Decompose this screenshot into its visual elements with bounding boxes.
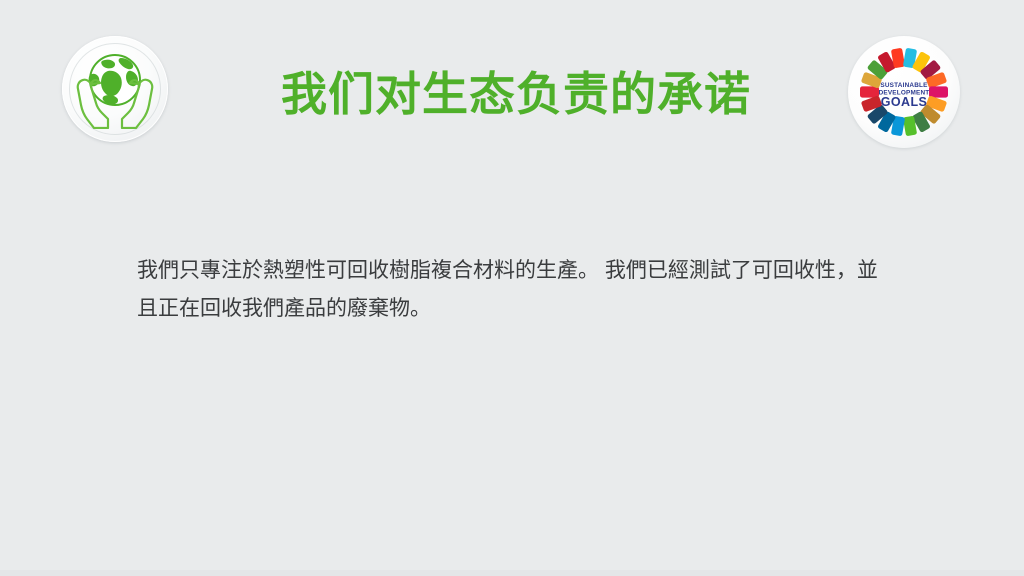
eco-logo-badge xyxy=(62,36,168,142)
sdg-wheel-icon: SUSTAINABLE DEVELOPMENT GOALS xyxy=(852,40,956,144)
bottom-strip xyxy=(0,570,1024,576)
body-paragraph: 我們只專注於熱塑性可回收樹脂複合材料的生產。 我們已經測試了可回收性，並且正在回… xyxy=(137,252,897,328)
slide-canvas: 我们对生态负责的承诺 xyxy=(0,0,1024,576)
sdg-center-line-1: SUSTAINABLE xyxy=(880,82,928,89)
sdg-logo-badge: SUSTAINABLE DEVELOPMENT GOALS xyxy=(848,36,960,148)
slide-title: 我们对生态负责的承诺 xyxy=(186,66,846,122)
hands-holding-globe-icon xyxy=(76,49,154,129)
body-copy-block: 我們只專注於熱塑性可回收樹脂複合材料的生產。 我們已經測試了可回收性，並且正在回… xyxy=(137,252,897,328)
sdg-center-line-3: GOALS xyxy=(881,95,927,109)
